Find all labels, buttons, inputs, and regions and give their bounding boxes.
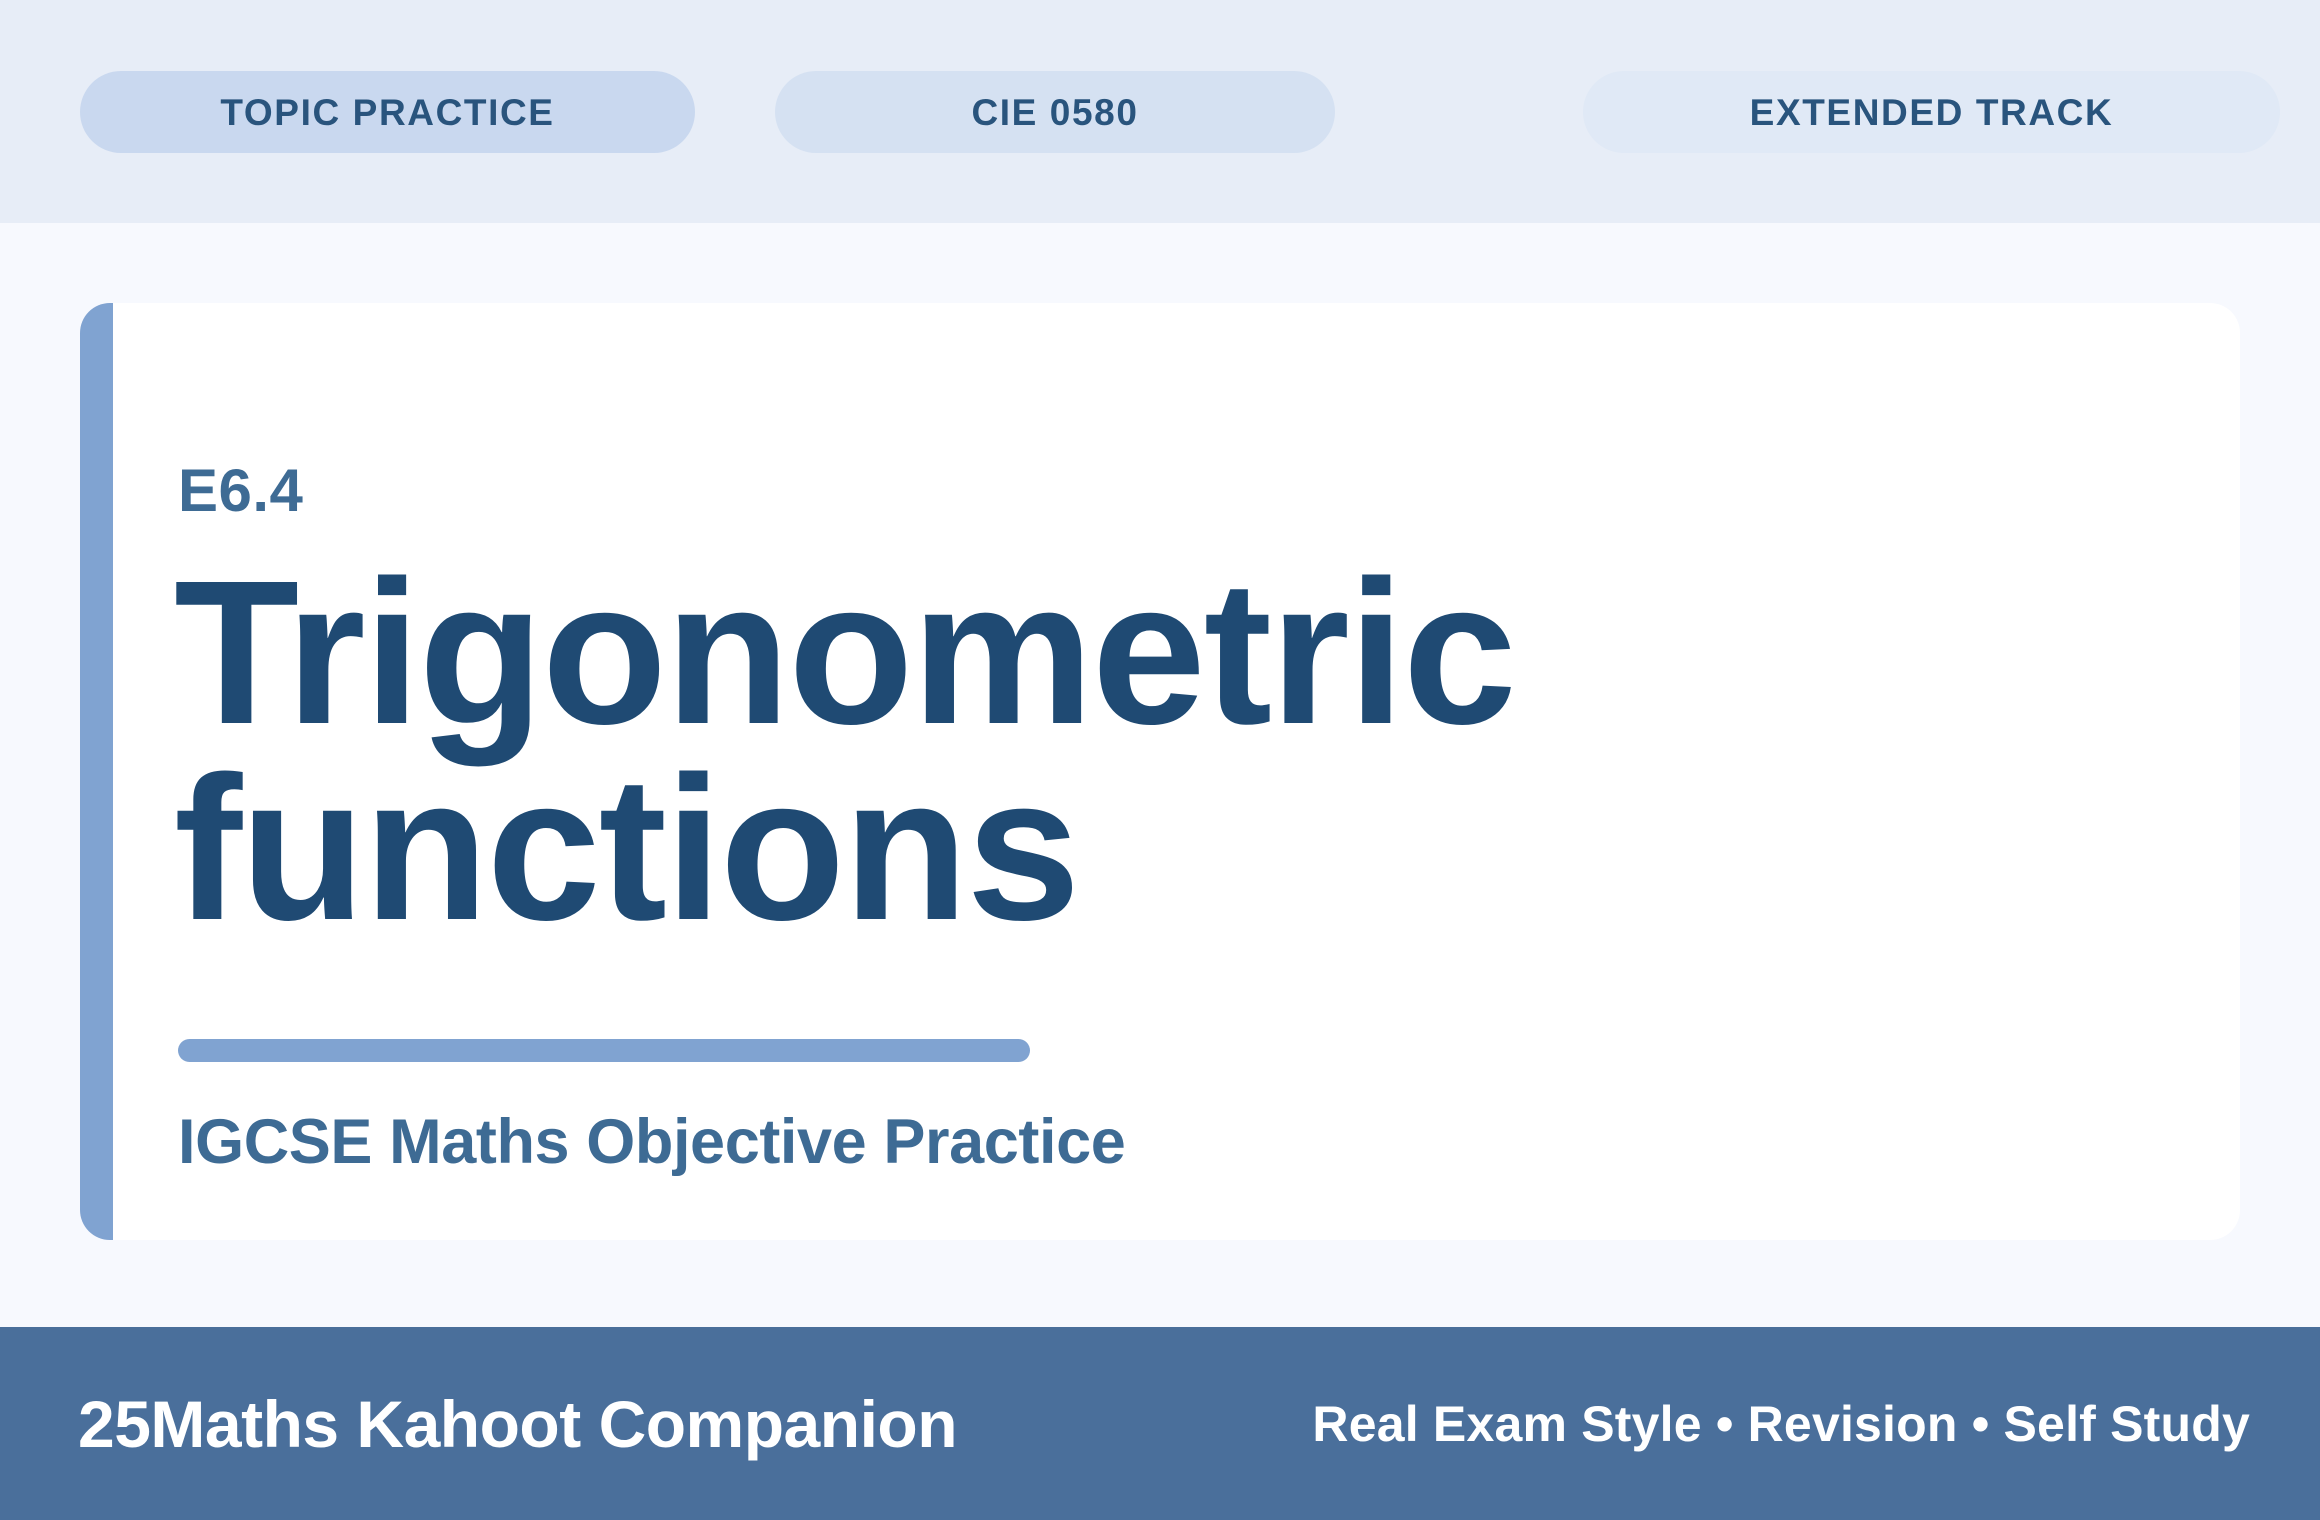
badge-cie-0580[interactable]: CIE 0580 [775, 71, 1335, 153]
badge-label: CIE 0580 [971, 94, 1138, 131]
badge-label: TOPIC PRACTICE [220, 94, 554, 131]
badge-label: EXTENDED TRACK [1750, 94, 2114, 131]
slide-root: TOPIC PRACTICE CIE 0580 EXTENDED TRACK E… [0, 0, 2320, 1520]
card-accent-bar [80, 303, 113, 1240]
footer-brand: 25Maths Kahoot Companion [78, 1391, 957, 1457]
card-body: E6.4 Trigonometric functions IGCSE Maths… [178, 303, 2178, 1240]
page-title: Trigonometric functions [174, 555, 1515, 947]
topic-code: E6.4 [178, 461, 303, 521]
badge-extended-track[interactable]: EXTENDED TRACK [1583, 71, 2280, 153]
footer-band: 25Maths Kahoot Companion Real Exam Style… [0, 1327, 2320, 1520]
footer-tagline: Real Exam Style • Revision • Self Study [1312, 1399, 2250, 1449]
page-subtitle: IGCSE Maths Objective Practice [178, 1111, 1125, 1174]
title-card: E6.4 Trigonometric functions IGCSE Maths… [80, 303, 2240, 1240]
badge-row: TOPIC PRACTICE CIE 0580 EXTENDED TRACK [0, 0, 2320, 223]
badge-topic-practice[interactable]: TOPIC PRACTICE [80, 71, 695, 153]
title-divider [178, 1039, 1030, 1062]
footer-content: 25Maths Kahoot Companion Real Exam Style… [78, 1327, 2250, 1520]
